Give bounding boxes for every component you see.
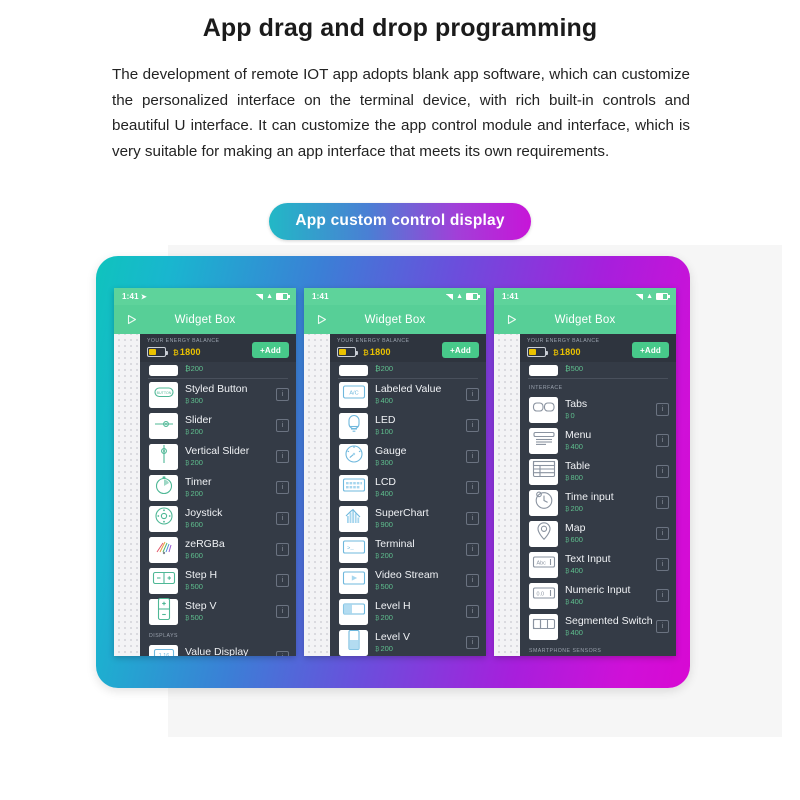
widget-thumbnail: >_ (339, 537, 368, 563)
widget-text: Level H₿200 (375, 600, 466, 624)
widget-info-button[interactable]: i (276, 388, 289, 401)
widget-list-item[interactable]: Level H₿200i (330, 596, 486, 627)
widget-cost: ₿600 (185, 551, 276, 562)
lcd-icon (342, 477, 366, 498)
widget-thumbnail (149, 537, 178, 563)
widget-list-item[interactable]: Time input₿200i (520, 487, 676, 518)
widget-text: Tabs₿0 (565, 398, 656, 422)
widget-info-button[interactable]: i (466, 481, 479, 494)
level-h-icon (342, 602, 366, 621)
widget-thumbnail (339, 506, 368, 532)
widget-thumbnail (529, 459, 558, 485)
widget-list-item[interactable]: zeRGBa₿600i (140, 534, 296, 565)
widget-cost: ₿200 (185, 458, 276, 469)
play-icon[interactable] (118, 313, 144, 326)
battery-icon (276, 293, 288, 300)
widget-thumbnail (149, 365, 178, 376)
phone-3: 1:41▲Widget BoxYOUR ENERGY BALANCE₿1800+… (494, 288, 676, 656)
styled-button-icon: BUTTON (153, 385, 175, 404)
zergba-icon (153, 538, 175, 561)
widget-name: Menu (565, 429, 656, 441)
widget-cost: ₿400 (565, 597, 656, 608)
status-icons: ▲ (636, 293, 668, 300)
energy-balance-bar: YOUR ENERGY BALANCE₿1800+Add (140, 334, 296, 362)
widget-text: Menu₿400 (565, 429, 656, 453)
widget-list-item[interactable]: Tabs₿0i (520, 394, 676, 425)
step-h-icon (152, 571, 176, 590)
widget-name: Level H (375, 600, 466, 612)
widget-info-button[interactable]: i (276, 512, 289, 525)
add-energy-button[interactable]: +Add (442, 342, 479, 358)
widget-text: Step V₿500 (185, 600, 276, 624)
widget-name: Vertical Slider (185, 445, 276, 457)
widget-cost: ₿200 (375, 364, 393, 373)
widget-cost: ₿0 (565, 411, 656, 422)
widget-list-item[interactable]: AbcText Input₿400i (520, 549, 676, 580)
widget-text: LCD₿400 (375, 476, 466, 500)
widget-list-item[interactable]: A/CLabeled Value₿400i (330, 379, 486, 410)
widget-cost: ₿200 (185, 364, 203, 373)
widget-thumbnail (149, 444, 178, 470)
widget-list-item[interactable]: Menu₿400i (520, 425, 676, 456)
signal-icon (636, 294, 643, 300)
widget-thumbnail (529, 397, 558, 423)
widget-text: Text Input₿400 (565, 553, 656, 577)
widget-list-item[interactable]: Segmented Switch₿400i (520, 611, 676, 642)
widget-cost: ₿500 (565, 364, 583, 373)
widget-text: Joystick₿600 (185, 507, 276, 531)
widget-cost: ₿200 (375, 613, 466, 624)
widget-text: zeRGBa₿600 (185, 538, 276, 562)
play-icon[interactable] (308, 313, 334, 326)
location-arrow-icon: ➤ (141, 294, 147, 301)
widget-cost: ₿500 (185, 613, 276, 624)
widget-thumbnail (149, 599, 178, 625)
widget-info-button[interactable]: i (466, 512, 479, 525)
battery-icon (656, 293, 668, 300)
superchart-icon (343, 507, 365, 530)
page-root: App drag and drop programming The develo… (0, 0, 800, 800)
widget-cost: ₿400 (565, 442, 656, 453)
energy-amount: ₿1800 (363, 347, 391, 357)
svg-text:A/C: A/C (349, 391, 358, 397)
widget-name: Level V (375, 631, 466, 643)
widget-cost: ₿600 (185, 520, 276, 531)
widget-thumbnail (149, 413, 178, 439)
canvas-dot-grid (304, 334, 330, 656)
widget-list-item[interactable]: Joystick₿600i (140, 503, 296, 534)
widget-info-button[interactable]: i (656, 465, 669, 478)
widget-name: SuperChart (375, 507, 466, 519)
widget-thumbnail (339, 444, 368, 470)
widget-list-item[interactable]: SuperChart₿900i (330, 503, 486, 534)
widget-list-item-partial[interactable]: ₿200 (140, 362, 296, 378)
value-display-icon: 1.16 (153, 648, 175, 656)
signal-icon (446, 294, 453, 300)
description-text: The development of remote IOT app adopts… (112, 62, 690, 164)
phone-body: YOUR ENERGY BALANCE₿1800+Add₿200BUTTONSt… (114, 334, 296, 656)
widget-text: Numeric Input₿400 (565, 584, 656, 608)
text-input-icon: Abc (532, 555, 556, 574)
widget-thumbnail (529, 428, 558, 454)
widget-name: Segmented Switch (565, 615, 656, 627)
status-bar: 1:41▲ (494, 288, 676, 305)
battery-icon (147, 347, 166, 357)
widget-text: Map₿600 (565, 522, 656, 546)
widget-name: Gauge (375, 445, 466, 457)
widget-list-item[interactable]: Step V₿500i (140, 596, 296, 627)
widget-list-item[interactable]: Map₿600i (520, 518, 676, 549)
widget-text: Terminal₿200 (375, 538, 466, 562)
widget-name: LCD (375, 476, 466, 488)
widget-info-button[interactable]: i (276, 450, 289, 463)
app-custom-control-display-badge: App custom control display (269, 203, 530, 240)
widget-cost: ₿600 (565, 535, 656, 546)
phone-body: YOUR ENERGY BALANCE₿1800+Add₿500INTERFAC… (494, 334, 676, 656)
labeled-value-icon: A/C (342, 384, 366, 405)
widget-list-item[interactable]: 1.16Value Display₿200i (140, 642, 296, 656)
widget-cost: ₿200 (375, 551, 466, 562)
section-header: SMARTPHONE SENSORS (520, 642, 676, 656)
widget-thumbnail: Abc (529, 552, 558, 578)
widget-thumbnail (529, 521, 558, 547)
widget-info-button[interactable]: i (466, 636, 479, 649)
widget-cost: ₿400 (375, 396, 466, 407)
widget-name: Time input (565, 491, 656, 503)
phone-body: YOUR ENERGY BALANCE₿1800+Add₿200A/CLabel… (304, 334, 486, 656)
widget-list-item[interactable]: Slider₿200i (140, 410, 296, 441)
time-input-icon (534, 490, 554, 515)
widget-thumbnail (339, 630, 368, 656)
widget-thumbnail (149, 506, 178, 532)
widget-thumbnail (339, 475, 368, 501)
widget-text: LED₿100 (375, 414, 466, 438)
widget-cost: ₿900 (375, 520, 466, 531)
widget-name: Step V (185, 600, 276, 612)
section-header: INTERFACE (520, 379, 676, 394)
widget-list-item[interactable]: Step H₿500i (140, 565, 296, 596)
widget-cost: ₿500 (375, 582, 466, 593)
add-energy-button[interactable]: +Add (252, 342, 289, 358)
widget-list-item[interactable]: Video Stream₿500i (330, 565, 486, 596)
app-bar: Widget Box (304, 305, 486, 334)
widget-name: Timer (185, 476, 276, 488)
vertical-slider-icon (158, 443, 170, 470)
tabs-icon (532, 400, 556, 419)
widget-name: Numeric Input (565, 584, 656, 596)
widget-thumbnail (339, 568, 368, 594)
widget-info-button[interactable]: i (276, 419, 289, 432)
widget-info-button[interactable]: i (656, 403, 669, 416)
widget-info-button[interactable]: i (466, 543, 479, 556)
widget-text: Timer₿200 (185, 476, 276, 500)
widget-list[interactable]: YOUR ENERGY BALANCE₿1800+Add₿200BUTTONSt… (140, 334, 296, 656)
section-header: DISPLAYS (140, 627, 296, 642)
widget-text: Slider₿200 (185, 414, 276, 438)
widget-info-button[interactable]: i (276, 543, 289, 556)
play-icon[interactable] (498, 313, 524, 326)
widget-thumbnail: 0.0 (529, 583, 558, 609)
gradient-showcase-card: 1:41➤▲Widget BoxYOUR ENERGY BALANCE₿1800… (96, 256, 690, 688)
widget-name: Tabs (565, 398, 656, 410)
status-icons: ▲ (256, 293, 288, 300)
widget-text: Level V₿200 (375, 631, 466, 655)
widget-cost: ₿100 (375, 427, 466, 438)
widget-info-button[interactable]: i (656, 589, 669, 602)
widget-name: Map (565, 522, 656, 534)
app-bar: Widget Box (114, 305, 296, 334)
wifi-icon: ▲ (266, 293, 273, 300)
level-v-icon (347, 629, 361, 656)
widget-list-item[interactable]: Vertical Slider₿200i (140, 441, 296, 472)
widget-name: Terminal (375, 538, 466, 550)
status-time: 1:41➤ (122, 292, 147, 301)
app-bar: Widget Box (494, 305, 676, 334)
svg-text:0.0: 0.0 (536, 591, 544, 597)
widget-thumbnail (339, 365, 368, 376)
widget-info-button[interactable]: i (466, 450, 479, 463)
description-paragraph: The development of remote IOT app adopts… (112, 62, 690, 164)
widget-cost: ₿400 (375, 489, 466, 500)
widget-info-button[interactable]: i (466, 388, 479, 401)
slider-icon (153, 417, 175, 435)
status-time: 1:41 (312, 292, 329, 301)
widget-info-button[interactable]: i (276, 574, 289, 587)
widget-list-item[interactable]: Table₿800i (520, 456, 676, 487)
widget-name: Table (565, 460, 656, 472)
svg-text:Abc: Abc (536, 560, 546, 566)
widget-list[interactable]: YOUR ENERGY BALANCE₿1800+Add₿500INTERFAC… (520, 334, 676, 656)
widget-cost: ₿200 (185, 489, 276, 500)
widget-name: Step H (185, 569, 276, 581)
phone-1: 1:41➤▲Widget BoxYOUR ENERGY BALANCE₿1800… (114, 288, 296, 656)
widget-thumbnail (529, 490, 558, 516)
widget-cost: ₿200 (565, 504, 656, 515)
widget-text: SuperChart₿900 (375, 507, 466, 531)
energy-balance-bar: YOUR ENERGY BALANCE₿1800+Add (330, 334, 486, 362)
widget-name: Value Display (185, 646, 276, 657)
menu-icon (532, 430, 556, 451)
wifi-icon: ▲ (646, 293, 653, 300)
battery-icon (466, 293, 478, 300)
video-stream-icon (342, 570, 366, 591)
badge-container: App custom control display (0, 203, 800, 240)
widget-text: Value Display₿200 (185, 646, 276, 657)
wifi-icon: ▲ (456, 293, 463, 300)
widget-list-item[interactable]: 0.0Numeric Input₿400i (520, 580, 676, 611)
widget-info-button[interactable]: i (656, 496, 669, 509)
widget-info-button[interactable]: i (656, 527, 669, 540)
widget-cost: ₿500 (185, 582, 276, 593)
widget-name: Slider (185, 414, 276, 426)
widget-name: Styled Button (185, 383, 276, 395)
widget-name: Labeled Value (375, 383, 466, 395)
widget-info-button[interactable]: i (466, 574, 479, 587)
widget-thumbnail (149, 475, 178, 501)
widget-name: Text Input (565, 553, 656, 565)
canvas-dot-grid (494, 334, 520, 656)
led-icon (345, 413, 363, 438)
svg-text:1.16: 1.16 (158, 653, 169, 656)
widget-name: LED (375, 414, 466, 426)
widget-text: Styled Button₿300 (185, 383, 276, 407)
numeric-input-icon: 0.0 (532, 586, 556, 605)
widget-text: Vertical Slider₿200 (185, 445, 276, 469)
widget-info-button[interactable]: i (656, 558, 669, 571)
widget-text: Table₿800 (565, 460, 656, 484)
gauge-icon (344, 444, 364, 469)
widget-list-item[interactable]: BUTTONStyled Button₿300i (140, 379, 296, 410)
joystick-icon (154, 506, 174, 531)
widget-name: Video Stream (375, 569, 466, 581)
widget-list-item-partial[interactable]: ₿500 (520, 362, 676, 378)
energy-amount: ₿1800 (173, 347, 201, 357)
widget-list-item-partial[interactable]: ₿200 (330, 362, 486, 378)
widget-text: Segmented Switch₿400 (565, 615, 656, 639)
widget-info-button[interactable]: i (656, 620, 669, 633)
widget-thumbnail (529, 614, 558, 640)
energy-amount: ₿1800 (553, 347, 581, 357)
terminal-icon: >_ (342, 539, 366, 560)
widget-cost: ₿400 (565, 628, 656, 639)
widget-cost: ₿200 (185, 427, 276, 438)
status-bar: 1:41➤▲ (114, 288, 296, 305)
widget-info-button[interactable]: i (466, 419, 479, 432)
widget-list-item[interactable]: >_Terminal₿200i (330, 534, 486, 565)
widget-cost: ₿800 (565, 473, 656, 484)
widget-info-button[interactable]: i (276, 605, 289, 618)
widget-cost: ₿400 (565, 566, 656, 577)
battery-icon (337, 347, 356, 357)
timer-icon (154, 475, 174, 500)
map-icon (535, 521, 553, 546)
widget-thumbnail (339, 599, 368, 625)
widget-list-item[interactable]: Gauge₿300i (330, 441, 486, 472)
battery-icon (527, 347, 546, 357)
status-time: 1:41 (502, 292, 519, 301)
widget-list-item[interactable]: Level V₿200i (330, 627, 486, 656)
widget-thumbnail (529, 365, 558, 376)
svg-text:BUTTON: BUTTON (156, 391, 171, 395)
signal-icon (256, 294, 263, 300)
widget-thumbnail: 1.16 (149, 645, 178, 657)
widget-text: Time input₿200 (565, 491, 656, 515)
energy-balance-bar: YOUR ENERGY BALANCE₿1800+Add (520, 334, 676, 362)
widget-thumbnail (339, 413, 368, 439)
widget-info-button[interactable]: i (466, 605, 479, 618)
phone-2: 1:41▲Widget BoxYOUR ENERGY BALANCE₿1800+… (304, 288, 486, 656)
widget-thumbnail: A/C (339, 382, 368, 408)
widget-cost: ₿300 (375, 458, 466, 469)
widget-text: Labeled Value₿400 (375, 383, 466, 407)
status-bar: 1:41▲ (304, 288, 486, 305)
widget-cost: ₿200 (375, 644, 466, 655)
widget-name: Joystick (185, 507, 276, 519)
widget-thumbnail: BUTTON (149, 382, 178, 408)
svg-text:>_: >_ (347, 544, 354, 551)
step-v-icon (157, 597, 171, 626)
table-icon (532, 460, 556, 483)
widget-info-button[interactable]: i (276, 651, 289, 656)
canvas-dot-grid (114, 334, 140, 656)
widget-info-button[interactable]: i (276, 481, 289, 494)
widget-list-item[interactable]: LED₿100i (330, 410, 486, 441)
widget-list[interactable]: YOUR ENERGY BALANCE₿1800+Add₿200A/CLabel… (330, 334, 486, 656)
widget-text: Step H₿500 (185, 569, 276, 593)
widget-list-item[interactable]: Timer₿200i (140, 472, 296, 503)
page-title: App drag and drop programming (0, 14, 800, 43)
widget-text: Gauge₿300 (375, 445, 466, 469)
widget-name: zeRGBa (185, 538, 276, 550)
widget-info-button[interactable]: i (656, 434, 669, 447)
widget-thumbnail (149, 568, 178, 594)
widget-cost: ₿300 (185, 396, 276, 407)
widget-text: Video Stream₿500 (375, 569, 466, 593)
widget-list-item[interactable]: LCD₿400i (330, 472, 486, 503)
segmented-switch-icon (532, 617, 556, 636)
add-energy-button[interactable]: +Add (632, 342, 669, 358)
status-icons: ▲ (446, 293, 478, 300)
